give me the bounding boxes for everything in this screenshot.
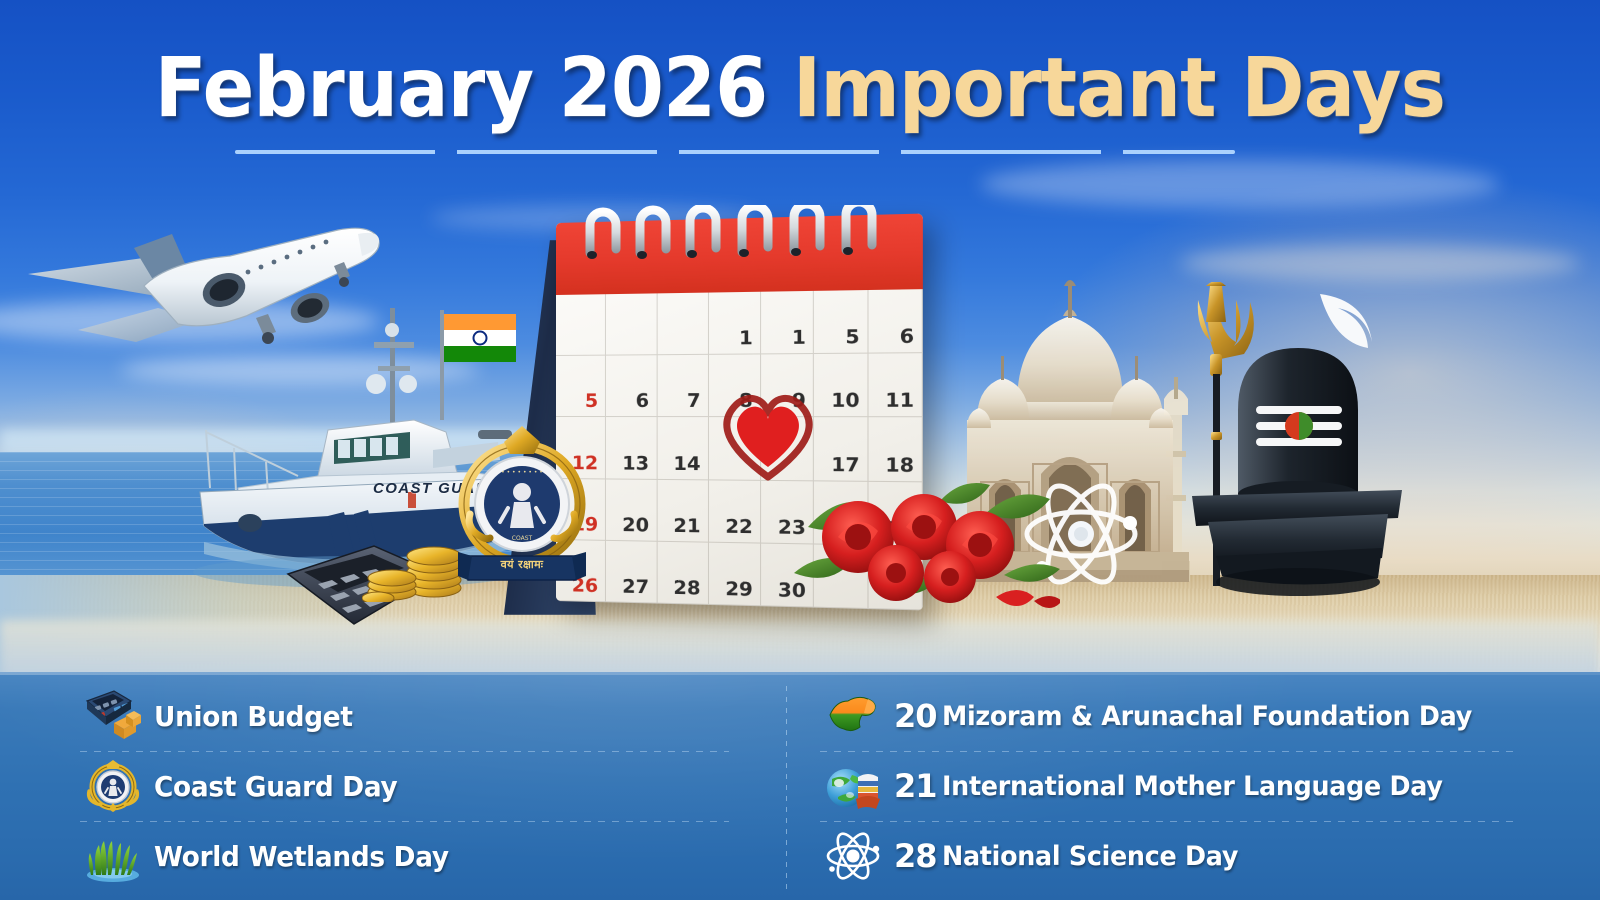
globe-books-icon <box>824 759 882 813</box>
infographic-canvas: February 2026 Important Days <box>0 0 1600 900</box>
india-map-icon <box>824 689 882 743</box>
title-month-year: February 2026 <box>155 41 768 136</box>
calendar-day-cell: 5 <box>556 356 606 418</box>
event-row[interactable]: 28National Science Day <box>820 821 1560 891</box>
event-label: Coast Guard Day <box>154 770 397 803</box>
cloud-wisp <box>980 160 1500 208</box>
calendar-day-number: 14 <box>673 452 700 475</box>
calendar-day-number: 10 <box>831 389 859 412</box>
events-left-column: Union Budget Coast Guard Day World Wetl <box>80 672 770 900</box>
gold-coins-icon <box>362 520 472 602</box>
event-label: World Wetlands Day <box>154 840 449 873</box>
calendar-empty-cell <box>606 293 657 355</box>
calendar-day-cell: 22 <box>709 480 761 543</box>
globe-books-icon <box>824 759 882 813</box>
calendar-day-number: 22 <box>725 515 753 538</box>
events-right-column: 20Mizoram & Arunachal Foundation Day 21I… <box>820 672 1560 900</box>
coast-guard-emblem-icon <box>84 759 142 813</box>
calendar-day-cell: 20 <box>606 479 657 542</box>
calendar-day-cell: 6 <box>868 289 923 354</box>
event-label: National Science Day <box>942 841 1238 872</box>
svg-text:COAST: COAST <box>512 535 533 542</box>
event-label: Union Budget <box>154 700 353 733</box>
calendar-day-number: 28 <box>673 577 700 600</box>
event-label: International Mother Language Day <box>942 771 1443 802</box>
calendar-day-cell: 10 <box>814 354 868 418</box>
calendar-day-number: 20 <box>622 514 649 537</box>
calendar-day-cell: 6 <box>606 355 657 417</box>
shiva-lingam-icon <box>1152 282 1402 602</box>
event-row[interactable]: 20Mizoram & Arunachal Foundation Day <box>820 681 1560 751</box>
calendar-day-cell: 13 <box>606 417 657 479</box>
calculator-coins-icon <box>84 689 142 743</box>
calendar-empty-cell <box>556 294 606 356</box>
calendar-day-number: 27 <box>622 575 649 598</box>
event-row[interactable]: 21International Mother Language Day <box>820 751 1560 821</box>
calendar-day-number: 6 <box>900 325 914 348</box>
calendar-day-number: 5 <box>585 390 598 412</box>
page-title: February 2026 Important Days <box>0 48 1600 130</box>
atom-icon <box>824 829 882 883</box>
calendar-day-cell: 5 <box>814 290 868 354</box>
calendar-day-cell: 27 <box>606 541 657 604</box>
calendar-day-cell: 1 <box>709 292 761 355</box>
calendar-day-cell: 14 <box>657 417 709 480</box>
title-underline <box>235 150 1235 154</box>
calendar-day-number: 21 <box>673 514 700 537</box>
calendar-day-cell: 7 <box>657 355 709 417</box>
wetland-grass-icon <box>84 829 142 883</box>
coast-guard-emblem-icon <box>84 759 142 813</box>
cloud-wisp <box>1180 245 1580 281</box>
event-row[interactable]: Coast Guard Day <box>80 751 770 821</box>
calendar-day-number: 11 <box>885 389 914 412</box>
coast-guard-motto: वयं रक्षामः <box>463 557 581 572</box>
title-subject: Important Days <box>793 41 1445 136</box>
calendar-day-cell: 1 <box>761 291 814 355</box>
calendar-day-cell: 29 <box>709 542 761 606</box>
india-map-icon <box>824 689 882 743</box>
svg-text:• • • • • • • •: • • • • • • • • <box>501 469 543 476</box>
calendar-day-cell: 11 <box>868 353 923 417</box>
calendar-spiral-rings <box>556 205 908 261</box>
calculator-coins-icon <box>84 689 142 743</box>
red-roses-icon <box>790 465 1060 620</box>
event-day-number: 28 <box>894 837 942 875</box>
event-day-number: 20 <box>894 697 942 735</box>
event-label: Mizoram & Arunachal Foundation Day <box>942 701 1472 732</box>
calendar-day-number: 1 <box>792 326 806 349</box>
event-row[interactable]: World Wetlands Day <box>80 821 770 891</box>
calendar-day-cell: 21 <box>657 480 709 543</box>
calendar-day-number: 13 <box>622 452 649 474</box>
wetland-grass-icon <box>84 829 142 883</box>
calendar-day-number: 5 <box>845 326 859 349</box>
atom-icon <box>824 829 882 883</box>
calendar-empty-cell <box>657 293 709 356</box>
calendar-day-number: 29 <box>725 578 753 601</box>
calendar-day-number: 1 <box>739 327 753 350</box>
event-day-number: 21 <box>894 767 942 805</box>
calendar-day-number: 6 <box>636 390 649 412</box>
calendar-day-cell: 28 <box>657 542 709 605</box>
event-row[interactable]: Union Budget <box>80 681 770 751</box>
column-divider <box>786 686 787 892</box>
calendar-day-number: 7 <box>687 390 701 412</box>
